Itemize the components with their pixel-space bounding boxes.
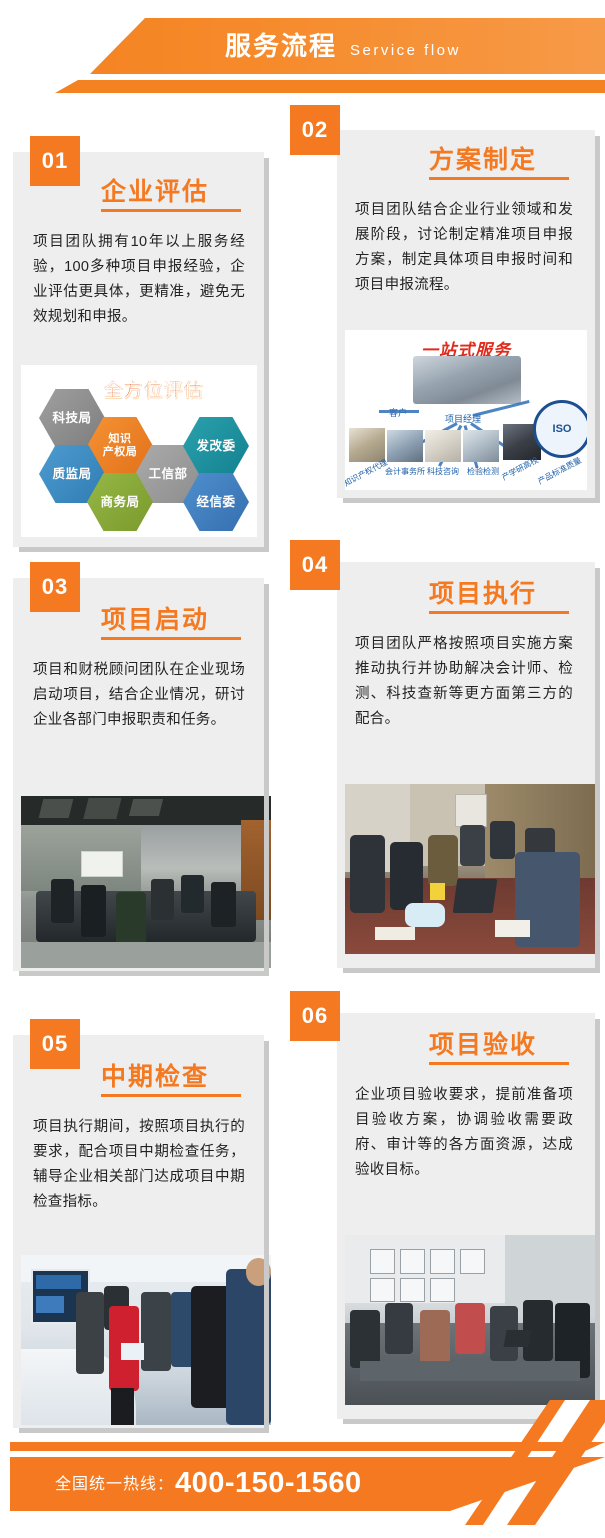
hotline-number[interactable]: 400-150-1560 [175, 1466, 362, 1500]
card-03-title: 项目启动 [101, 600, 209, 636]
card-04: 项目执行 项目团队严格按照项目实施方案推动执行并协助解决会计师、检测、科技查新等… [337, 562, 595, 968]
page-subtitle: Service flow [350, 37, 461, 65]
card-02-badge: 02 [290, 105, 340, 155]
service-flow-infographic: 服务流程 Service flow 企业评估 项目团队拥有10年以上服务经验，1… [0, 0, 605, 1538]
card-04-photo [345, 784, 595, 954]
card-02-body: 项目团队结合企业行业领域和发展阶段，讨论制定精准项目申报方案，制定具体项目申报时… [355, 198, 573, 298]
thumb-inspection [463, 430, 499, 462]
card-03-body: 项目和财税顾问团队在企业现场启动项目，结合企业情况，研讨企业各部门申报职责和任务… [33, 658, 245, 733]
card-02: 方案制定 项目团队结合企业行业领域和发展阶段，讨论制定精准项目申报方案，制定具体… [337, 130, 595, 498]
svc-label-3: 检验检测 [467, 466, 499, 477]
card-04-badge: 04 [290, 540, 340, 590]
card-03-badge: 03 [30, 562, 80, 612]
card-05-badge: 05 [30, 1019, 80, 1069]
thumb-tech [425, 430, 461, 462]
card-01-rule [101, 209, 241, 212]
svc-label-2: 科技咨询 [427, 466, 459, 477]
card-01-body: 项目团队拥有10年以上服务经验，100多种项目申报经验，企业评估更具体，更精准，… [33, 230, 245, 330]
card-01-figure: 全方位评估 科技局 知识产权局 质监局 工信部 商务局 发改委 经信委 [21, 365, 257, 537]
card-01-title: 企业评估 [101, 172, 209, 208]
card-03: 项目启动 项目和财税顾问团队在企业现场启动项目，结合企业情况，研讨企业各部门申报… [13, 578, 264, 971]
card-06-body: 企业项目验收要求，提前准备项目验收方案，协调验收需要政府、审计等的各方面资源，达… [355, 1083, 573, 1183]
card-05-body: 项目执行期间，按照项目执行的要求，配合项目中期检查任务，辅导企业相关部门达成项目… [33, 1115, 245, 1215]
page-header: 服务流程 Service flow [0, 0, 605, 105]
card-03-rule [101, 637, 241, 640]
card-01-badge: 01 [30, 136, 80, 186]
hotline-label: 全国统一热线： [55, 1472, 174, 1498]
card-05-rule [101, 1094, 241, 1097]
card-06-photo [345, 1235, 595, 1405]
thumb-ip [349, 428, 385, 462]
card-04-body: 项目团队严格按照项目实施方案推动执行并协助解决会计师、检测、科技查新等更方面第三… [355, 632, 573, 732]
card-06-badge: 06 [290, 991, 340, 1041]
iso-seal-icon: ISO [533, 400, 587, 458]
svc-label-1: 会计事务所 [385, 466, 425, 477]
card-02-title: 方案制定 [429, 140, 537, 176]
thumb-accounting [387, 430, 423, 462]
card-02-figure: 一站式服务 客户 项目经理 ISO 知识产权代理 会计事务所 科技咨询 检验检测… [345, 330, 587, 490]
footer-stripe [10, 1442, 605, 1451]
svc-label-5: 产品标准质量 [536, 455, 584, 487]
card-04-rule [429, 611, 569, 614]
card-06: 项目验收 企业项目验收要求，提前准备项目验收方案，协调验收需要政府、审计等的各方… [337, 1013, 595, 1419]
header-stripe [0, 80, 605, 93]
card-02-rule [429, 177, 569, 180]
card-05: 中期检查 项目执行期间，按照项目执行的要求，配合项目中期检查任务，辅导企业相关部… [13, 1035, 264, 1428]
card-03-photo [21, 796, 271, 968]
card-05-title: 中期检查 [101, 1057, 209, 1093]
figure-hero-photo [413, 356, 521, 404]
hexagon-diagram: 科技局 知识产权局 质监局 工信部 商务局 发改委 经信委 [21, 365, 257, 537]
card-06-rule [429, 1062, 569, 1065]
card-05-photo [21, 1255, 271, 1425]
card-04-title: 项目执行 [429, 574, 537, 610]
card-01: 企业评估 项目团队拥有10年以上服务经验，100多种项目申报经验，企业评估更具体… [13, 152, 264, 547]
card-06-title: 项目验收 [429, 1025, 537, 1061]
page-title: 服务流程 [225, 27, 337, 65]
arrow-1 [379, 410, 419, 413]
